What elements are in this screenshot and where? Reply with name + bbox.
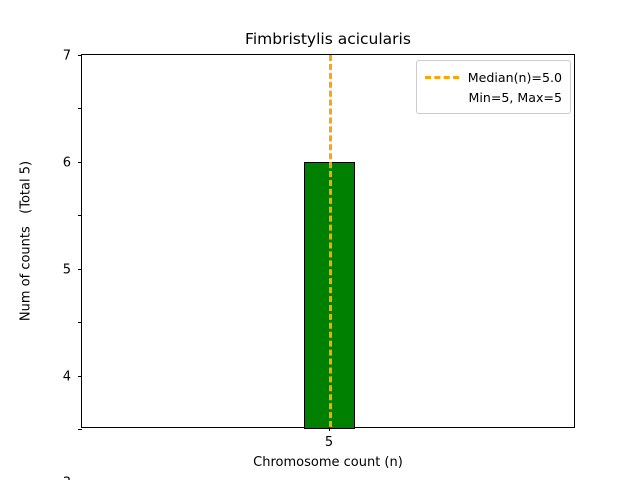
legend-label-minmax: Min=5, Max=5	[468, 90, 562, 105]
y-tick-mark: 7	[78, 55, 82, 56]
y-tick-mark: 4	[78, 215, 82, 216]
y-tick-label: 3	[63, 476, 71, 480]
x-tick-mark	[329, 427, 330, 431]
y-axis-title: Num of counts (Total 5)	[19, 161, 34, 321]
y-tick-mark: 0	[78, 429, 82, 430]
chart-figure: Fimbristylis acicularis 01234567 5 Media…	[0, 0, 640, 480]
y-tick-label: 5	[63, 262, 71, 277]
chart-legend: Median(n)=5.0 Min=5, Max=5	[416, 60, 571, 114]
legend-label-median: Median(n)=5.0	[468, 70, 562, 85]
legend-item-median: Median(n)=5.0	[425, 67, 562, 87]
y-tick-label: 7	[63, 49, 71, 64]
y-tick-label: 4	[63, 369, 71, 384]
y-tick-mark: 3	[78, 269, 82, 270]
y-tick-label: 6	[63, 155, 71, 170]
y-tick-mark: 2	[78, 322, 82, 323]
x-axis-title: Chromosome count (n)	[81, 455, 575, 470]
y-tick-mark: 1	[78, 376, 82, 377]
x-tick-label: 5	[325, 435, 333, 450]
median-line	[329, 55, 332, 427]
legend-item-minmax: Min=5, Max=5	[425, 87, 562, 107]
dashed-line-icon	[425, 71, 459, 83]
y-tick-mark: 5	[78, 162, 82, 163]
y-tick-mark: 6	[78, 108, 82, 109]
plot-area: 01234567 5 Median(n)=5.0 Min=5, Max=5	[81, 54, 575, 428]
chart-title: Fimbristylis acicularis	[81, 30, 575, 48]
